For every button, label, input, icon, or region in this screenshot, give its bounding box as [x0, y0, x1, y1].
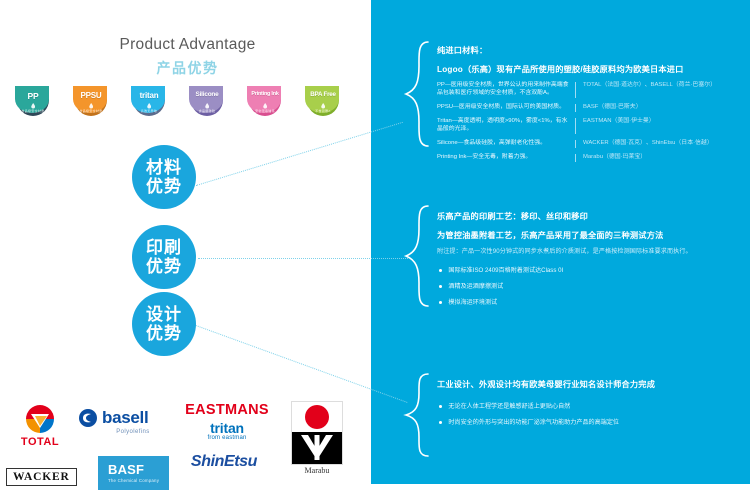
- material-row: Printing Ink—安全无毒，附着力强。 Marabu（德国·玛莱宝）: [437, 153, 745, 162]
- block2-note: 附注提：产品一次性90分钟式的同步水煮后的介质测试，是严格按检测国际标准要求而执…: [437, 247, 745, 257]
- material-row-left: Printing Ink—安全无毒，附着力强。: [437, 153, 575, 161]
- badge-sub: 食品级安全材质: [10, 108, 56, 113]
- logo-total-name: TOTAL: [10, 436, 70, 448]
- logo-eastman-name: EASTMANS: [172, 402, 282, 418]
- bullet-text: 国际标准ISO 2409百格附着测试达Class 0I: [448, 266, 563, 275]
- bullet-item: 酒精及运酒摩擦测试: [437, 282, 745, 291]
- badge-tritan[interactable]: tritan 高透无异味: [124, 86, 174, 122]
- material-row-right: Marabu（德国·玛莱宝）: [583, 153, 745, 161]
- badge-sub: 安全无毒油墨: [242, 108, 288, 113]
- material-row-right: TOTAL（法国·道达尔）、BASELL（荷兰·巴塞尔）: [583, 81, 745, 89]
- block2-heading-2: 为管控油墨附着工艺，乐高产品采用了最全面的三种测试方法: [437, 229, 745, 242]
- badge-bpa-free[interactable]: BPA Free 不含双酚A: [298, 86, 348, 122]
- circle-design-advantage[interactable]: 设计 优势: [132, 292, 196, 356]
- bullet-dot-icon: [439, 285, 442, 288]
- logo-tritan-name: tritan: [172, 420, 282, 436]
- brace-icon-3: [402, 372, 432, 458]
- logo-wacker: WACKER: [6, 468, 77, 486]
- bullet-text: 时尚安全的外形与突出的功能厂泌涂气功能助力产品的高端定位: [448, 418, 619, 427]
- logo-basell-name: basell: [102, 408, 148, 428]
- total-mark-icon: [18, 403, 62, 435]
- material-row-left: PP—医用级安全材质，世界公认的用来制作高端食品包装和医疗领域的安全材质，不含双…: [437, 81, 575, 98]
- panel-block-materials: 纯进口材料： Logoo（乐高）现有产品所使用的塑胶/硅胶原料均为欧美日本进口 …: [437, 44, 745, 167]
- logo-total: TOTAL: [10, 403, 70, 448]
- circle-printing-advantage[interactable]: 印刷 优势: [132, 225, 196, 289]
- block3-heading-1: 工业设计、外观设计均有欧美母婴行业知名设计师合力完成: [437, 378, 745, 391]
- bullet-dot-icon: [439, 269, 442, 272]
- logo-basf: BASF The Chemical Company: [98, 456, 169, 490]
- basell-mark-icon: [78, 408, 98, 428]
- material-row: PP—医用级安全材质，世界公认的用来制作高端食品包装和医疗领域的安全材质，不含双…: [437, 81, 745, 98]
- material-rows: PP—医用级安全材质，世界公认的用来制作高端食品包装和医疗领域的安全材质，不含双…: [437, 81, 745, 162]
- logo-shinetsu-name: ShinEtsu: [168, 453, 280, 471]
- badge-sub: 食品级硅胶: [184, 108, 230, 113]
- logo-wacker-name: WACKER: [13, 471, 70, 483]
- bullet-dot-icon: [439, 405, 442, 408]
- circle-line-2: 优势: [146, 178, 182, 196]
- row-divider: [575, 140, 576, 148]
- material-row-right: BASF（德国·巴斯夫）: [583, 103, 745, 111]
- badge-pp[interactable]: PP 食品级安全材质: [8, 86, 58, 122]
- row-divider: [575, 104, 576, 112]
- badge-label: Silicone: [182, 91, 232, 98]
- material-row: Tritan—高度透明，透明度>90%，雾度<1%，有水晶般的光泽。 EASTM…: [437, 117, 745, 134]
- badge-label: BPA Free: [298, 91, 348, 98]
- material-row-left: Tritan—高度透明，透明度>90%，雾度<1%，有水晶般的光泽。: [437, 117, 575, 134]
- badge-ppsu[interactable]: PPSU 食品级安全材质: [66, 86, 116, 122]
- bullet-dot-icon: [439, 301, 442, 304]
- badge-label: tritan: [124, 91, 174, 100]
- badge-label: Printing Ink: [240, 91, 290, 97]
- logo-marabu: Marabu: [290, 401, 344, 475]
- bullet-dot-icon: [439, 421, 442, 424]
- logo-marabu-name: Marabu: [290, 466, 344, 475]
- row-divider: [575, 82, 576, 98]
- badge-sub: 高透无异味: [126, 108, 172, 113]
- partner-logo-grid: TOTAL WACKER basell Polyolefins BASF The…: [0, 398, 375, 484]
- poster-canvas: 纯进口材料： Logoo（乐高）现有产品所使用的塑胶/硅胶原料均为欧美日本进口 …: [0, 0, 750, 484]
- circle-line-2: 优势: [146, 325, 182, 343]
- block1-heading-2: Logoo（乐高）现有产品所使用的塑胶/硅胶原料均为欧美日本进口: [437, 63, 745, 76]
- bullet-text: 酒精及运酒摩擦测试: [448, 282, 503, 291]
- circle-line-1: 印刷: [146, 239, 182, 257]
- logo-basf-sub: The Chemical Company: [108, 478, 159, 483]
- material-row-left: PPSU—医用级安全材质，国际认可的美国材质。: [437, 103, 575, 111]
- logo-tritan-sub: from eastman: [172, 435, 282, 441]
- badge-printing-ink[interactable]: Printing Ink 安全无毒油墨: [240, 86, 290, 122]
- marabu-mark-icon: [291, 401, 343, 465]
- badge-label: PPSU: [66, 91, 116, 100]
- material-row-right: EASTMAN（美国·伊士曼）: [583, 117, 745, 125]
- bullet-item: 国际标准ISO 2409百格附着测试达Class 0I: [437, 266, 745, 275]
- bullet-item: 无论在人体工程学还是触感舒适上更贴心自然: [437, 402, 745, 411]
- block2-heading-1: 乐高产品的印刷工艺：移印、丝印和移印: [437, 210, 745, 223]
- panel-block-design: 工业设计、外观设计均有欧美母婴行业知名设计师合力完成 无论在人体工程学还是触感舒…: [437, 378, 745, 434]
- connector-line-2: [198, 258, 408, 259]
- badge-sub: 不含双酚A: [300, 108, 346, 113]
- design-bullets: 无论在人体工程学还是触感舒适上更贴心自然 时尚安全的外形与突出的功能厂泌涂气功能…: [437, 402, 745, 427]
- circle-line-1: 设计: [146, 306, 182, 324]
- badge-row: PP 食品级安全材质 PPSU 食品级安全材质 tritan: [8, 86, 348, 122]
- brace-icon-2: [402, 204, 432, 308]
- logo-shinetsu: ShinEtsu: [168, 453, 280, 471]
- page-title-en: Product Advantage: [0, 36, 375, 54]
- logo-eastman: EASTMANS tritan from eastman: [172, 402, 282, 441]
- material-row: Silicone—食品级硅胶，高弹耐老化性强。 WACKER（德国·瓦克）、Sh…: [437, 139, 745, 148]
- row-divider: [575, 154, 576, 162]
- badge-silicone[interactable]: Silicone 食品级硅胶: [182, 86, 232, 122]
- logo-basf-name: BASF: [108, 462, 159, 477]
- printing-bullets: 国际标准ISO 2409百格附着测试达Class 0I 酒精及运酒摩擦测试 模拟…: [437, 266, 745, 307]
- circle-material-advantage[interactable]: 材料 优势: [132, 145, 196, 209]
- brace-icon-1: [402, 40, 432, 148]
- page-title-cn: 产品优势: [0, 58, 375, 78]
- bullet-item: 模拟海运环境测试: [437, 298, 745, 307]
- material-row-left: Silicone—食品级硅胶，高弹耐老化性强。: [437, 139, 575, 147]
- material-row-right: WACKER（德国·瓦克）、ShinEtsu（日本·信越）: [583, 139, 745, 147]
- bullet-text: 模拟海运环境测试: [448, 298, 497, 307]
- block1-heading-1: 纯进口材料：: [437, 44, 745, 57]
- material-row: PPSU—医用级安全材质，国际认可的美国材质。 BASF（德国·巴斯夫）: [437, 103, 745, 112]
- badge-label: PP: [8, 91, 58, 101]
- circle-line-2: 优势: [146, 258, 182, 276]
- row-divider: [575, 118, 576, 134]
- panel-block-printing: 乐高产品的印刷工艺：移印、丝印和移印 为管控油墨附着工艺，乐高产品采用了最全面的…: [437, 210, 745, 314]
- bullet-item: 时尚安全的外形与突出的功能厂泌涂气功能助力产品的高端定位: [437, 418, 745, 427]
- bullet-text: 无论在人体工程学还是触感舒适上更贴心自然: [448, 402, 570, 411]
- badge-sub: 食品级安全材质: [68, 108, 114, 113]
- circle-line-1: 材料: [146, 159, 182, 177]
